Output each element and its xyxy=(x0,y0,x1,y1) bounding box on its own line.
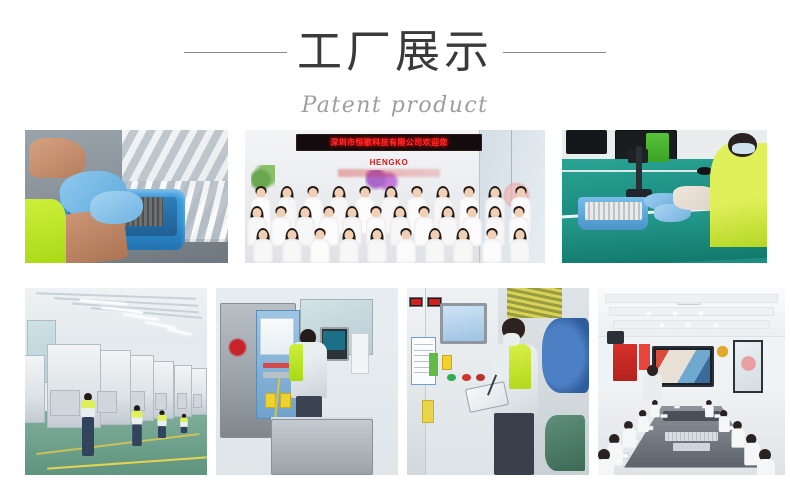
microscope-column xyxy=(636,146,642,191)
machine-panel-door xyxy=(155,393,167,410)
engineer-legs xyxy=(494,413,534,475)
ceiling-spotlight xyxy=(686,324,690,327)
process-machine-left xyxy=(25,355,45,422)
wall-notice-panel xyxy=(351,333,369,374)
page-title: 工厂展示 xyxy=(297,27,493,77)
led-welcome-banner: 深圳市恒歌科技有限公司欢迎您 xyxy=(296,134,482,151)
operator-uniform xyxy=(710,143,767,247)
cnc-brand-logo xyxy=(223,337,252,363)
photo-conference-room-meeting[interactable]: Team meeting in a conference room with a… xyxy=(598,288,785,475)
wall-award-badge xyxy=(716,344,729,359)
cable-bundle xyxy=(507,288,562,318)
title-row: 工厂展示 xyxy=(0,22,790,82)
machine-panel-door xyxy=(50,390,80,415)
gallery-row-2: Production line hall with rows of white … xyxy=(25,288,766,475)
process-machine xyxy=(191,368,207,415)
photo-quality-inspection-sorting[interactable]: Worker in blue nitrile gloves sorting me… xyxy=(25,130,228,263)
hi-vis-uniform xyxy=(25,199,66,263)
display-content xyxy=(656,350,710,383)
face-mask xyxy=(503,333,519,346)
line-operator xyxy=(130,405,143,446)
wall-logo-text: HENGKO xyxy=(370,158,409,167)
wall-speaker xyxy=(607,331,624,344)
photo-cnc-machining-operator[interactable]: Operator working at a grey and blue CNC … xyxy=(216,288,398,475)
digital-readout-1 xyxy=(409,297,424,306)
warning-label-right xyxy=(280,393,291,408)
cnc-console-screen xyxy=(323,331,345,350)
stainless-parts-cart xyxy=(271,419,373,475)
page-subtitle: Patent product xyxy=(0,93,790,118)
ceiling-tile xyxy=(613,320,770,329)
engineer-sleeve xyxy=(509,344,531,389)
cnc-button-red xyxy=(263,363,288,369)
title-rule-left xyxy=(184,52,287,53)
led-banner-text: 深圳市恒歌科技有限公司欢迎您 xyxy=(330,137,448,148)
machine-panel-door xyxy=(97,391,117,413)
face-mask xyxy=(732,143,755,154)
worker-arm-upper xyxy=(29,138,86,178)
process-machine xyxy=(174,365,192,417)
photo-microscope-inspection-station[interactable]: Operator in blue gloves inspecting parts… xyxy=(562,130,767,263)
line-operator xyxy=(157,411,168,439)
presenter-head xyxy=(647,365,658,376)
door-emblem xyxy=(740,355,757,372)
line-operator xyxy=(180,414,189,433)
machine-panel-door xyxy=(177,393,187,409)
factory-showcase-page: 工厂展示 Patent product Worker in blue nitri… xyxy=(0,0,790,500)
red-wall-poster xyxy=(613,344,637,381)
notepad xyxy=(674,405,680,408)
green-machine-housing xyxy=(545,415,585,471)
gallery-row-1: Worker in blue nitrile gloves sorting me… xyxy=(25,130,766,263)
green-equipment-box xyxy=(646,133,669,162)
hazard-warning-label xyxy=(442,355,453,370)
ceiling-spotlight xyxy=(714,324,718,327)
photo-production-line-hall[interactable]: Production line hall with rows of white … xyxy=(25,288,207,475)
blue-machine-housing xyxy=(542,318,589,393)
ceiling-tile xyxy=(609,307,774,316)
monitor-secondary xyxy=(566,130,607,154)
section-header: 工厂展示 Patent product xyxy=(0,22,790,118)
blue-glove-right xyxy=(90,191,143,224)
staff-group xyxy=(257,186,545,263)
line-operator xyxy=(80,393,96,457)
wall-logo: HENGKO xyxy=(344,157,434,169)
cabinet-handle xyxy=(422,400,435,422)
hmi-touch-display xyxy=(440,303,487,344)
ceiling-spotlight xyxy=(660,324,664,327)
photo-company-group-photo[interactable]: 深圳市恒歌科技有限公司欢迎您 HENGKO Company staff grou… xyxy=(245,130,545,263)
notepad xyxy=(660,414,667,418)
green-label xyxy=(429,353,438,375)
keyboard xyxy=(665,432,717,441)
machine-panel-door xyxy=(193,394,202,408)
keyboard-secondary xyxy=(673,443,710,450)
presenter-body xyxy=(643,374,662,400)
wall-logo-subtitle xyxy=(338,169,440,177)
title-rule-right xyxy=(503,52,606,53)
sintered-parts xyxy=(585,202,642,221)
cnc-button-grey xyxy=(263,372,288,378)
operator-sleeve xyxy=(289,344,304,381)
ceiling-tile xyxy=(605,294,777,303)
photo-process-data-recording[interactable]: Masked engineer writing on a clipboard i… xyxy=(407,288,589,475)
